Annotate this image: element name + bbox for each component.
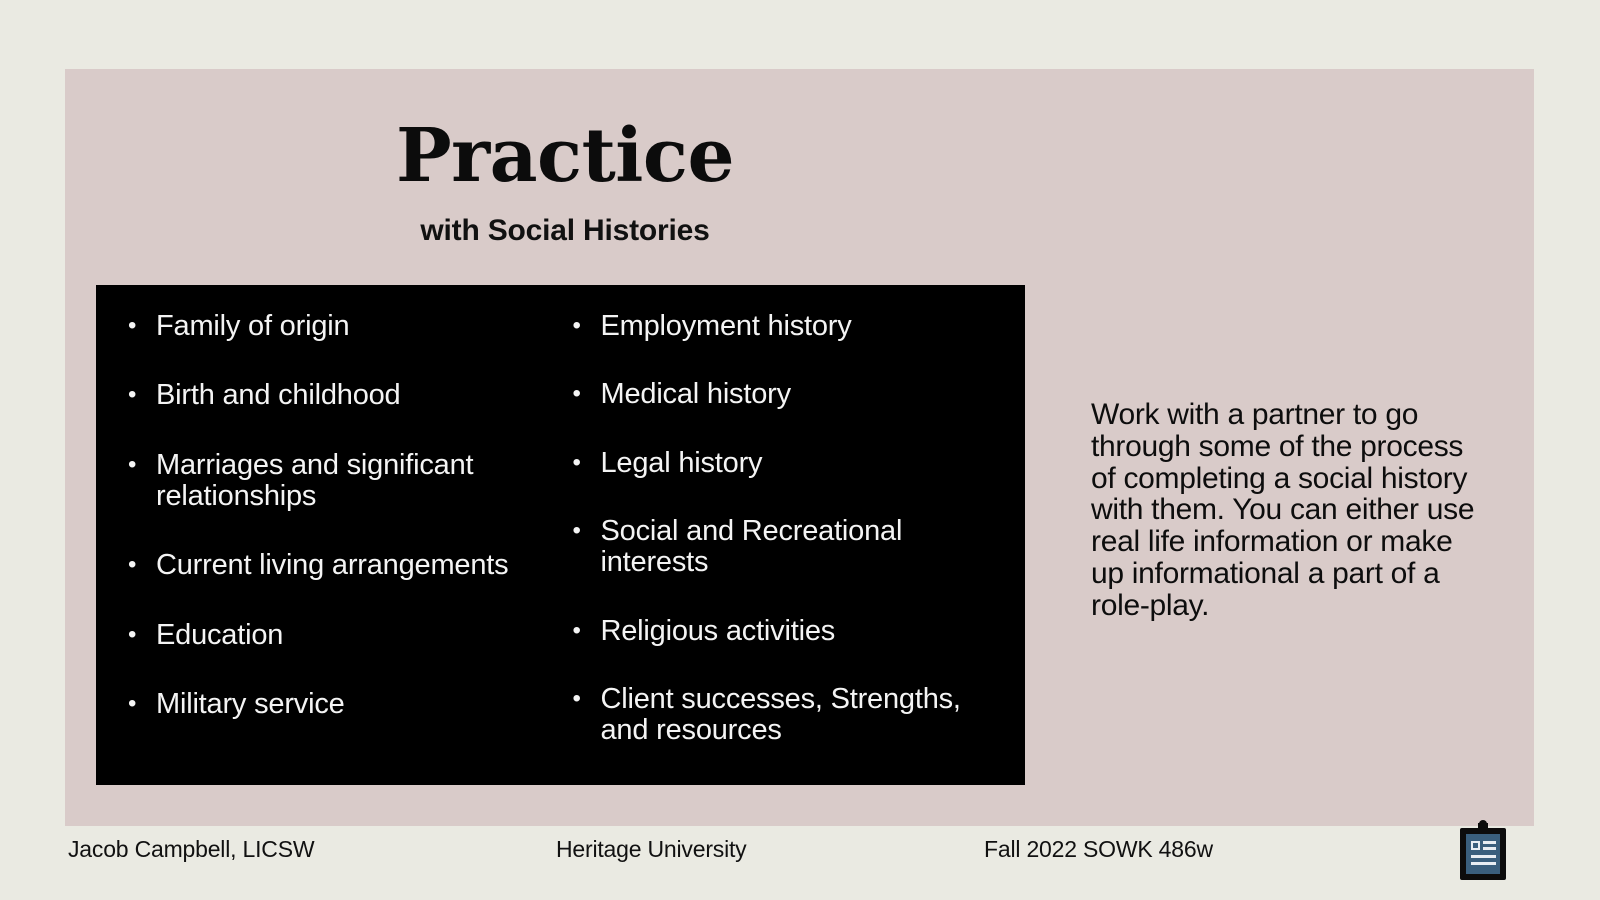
footer-term: Fall 2022 SOWK 486w xyxy=(984,836,1213,863)
list-item: • Marriages and significant relationship… xyxy=(128,450,551,513)
bullet-point-icon: • xyxy=(573,616,601,646)
list-item: • Client successes, Strengths, and resou… xyxy=(573,684,1016,747)
list-item: • Current living arrangements xyxy=(128,550,551,581)
list-item: • Birth and childhood xyxy=(128,380,551,411)
list-item-label: Education xyxy=(156,620,551,651)
bullet-point-icon: • xyxy=(573,311,601,341)
bullet-point-icon: • xyxy=(128,380,156,410)
title-block: Practice with Social Histories xyxy=(65,119,1065,248)
list-item: • Social and Recreational interests xyxy=(573,516,1016,579)
list-item-label: Legal history xyxy=(601,448,1016,479)
footer-author: Jacob Campbell, LICSW xyxy=(68,836,314,863)
list-item: • Religious activities xyxy=(573,616,1016,647)
bullet-column-right: • Employment history • Medical history •… xyxy=(561,311,1026,761)
list-item-label: Current living arrangements xyxy=(156,550,551,581)
bullet-point-icon: • xyxy=(573,448,601,478)
bullet-point-icon: • xyxy=(573,684,601,714)
list-item-label: Employment history xyxy=(601,311,1016,342)
page-title: Practice xyxy=(65,119,1065,194)
bullet-point-icon: • xyxy=(128,311,156,341)
list-item-label: Religious activities xyxy=(601,616,1016,647)
bullet-column-left: • Family of origin • Birth and childhood… xyxy=(96,311,561,761)
bullet-point-icon: • xyxy=(128,620,156,650)
list-item-label: Family of origin xyxy=(156,311,551,342)
bullet-list-panel: • Family of origin • Birth and childhood… xyxy=(96,285,1025,785)
slide-footer: Jacob Campbell, LICSW Heritage Universit… xyxy=(0,836,1600,876)
bullet-point-icon: • xyxy=(573,379,601,409)
footer-organization: Heritage University xyxy=(556,836,747,863)
list-item-label: Medical history xyxy=(601,379,1016,410)
list-item-label: Social and Recreational interests xyxy=(601,516,1016,579)
bullet-point-icon: • xyxy=(128,450,156,480)
page-subtitle: with Social Histories xyxy=(65,214,1065,248)
list-item-label: Marriages and significant relationships xyxy=(156,450,551,513)
list-item-label: Birth and childhood xyxy=(156,380,551,411)
bullet-point-icon: • xyxy=(128,689,156,719)
list-item: • Employment history xyxy=(573,311,1016,342)
list-item: • Legal history xyxy=(573,448,1016,479)
list-item: • Medical history xyxy=(573,379,1016,410)
bullet-point-icon: • xyxy=(573,516,601,546)
activity-instructions-text: Work with a partner to go through some o… xyxy=(1091,399,1481,622)
list-item-label: Military service xyxy=(156,689,551,720)
list-item: • Military service xyxy=(128,689,551,720)
list-item: • Education xyxy=(128,620,551,651)
list-item-label: Client successes, Strengths, and resourc… xyxy=(601,684,1016,747)
clipboard-icon xyxy=(1457,820,1509,882)
slide-panel: Practice with Social Histories • Family … xyxy=(65,69,1534,826)
list-item: • Family of origin xyxy=(128,311,551,342)
bullet-point-icon: • xyxy=(128,550,156,580)
